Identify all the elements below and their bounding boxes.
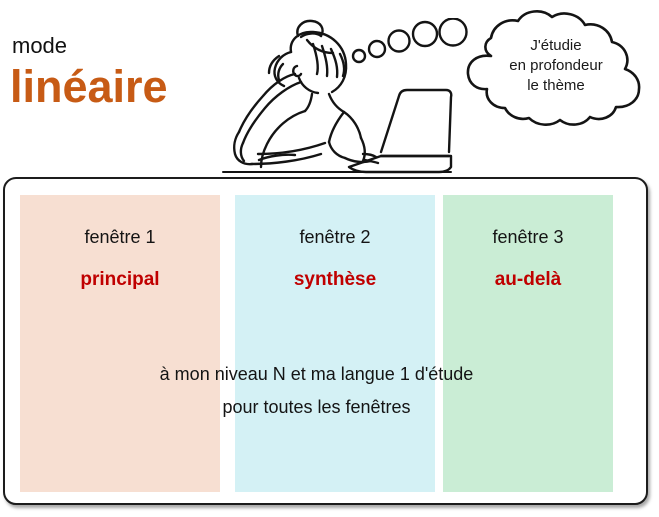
column-3-value: au-delà xyxy=(443,268,613,292)
column-2-title: fenêtre 2 xyxy=(235,226,435,248)
footer-note-line-2: pour toutes les fenêtres xyxy=(20,391,613,424)
thought-bubble-line-3: le thème xyxy=(472,76,640,96)
thought-bubble-line-2: en profondeur xyxy=(472,56,640,76)
column-1-value: principal xyxy=(20,268,220,292)
window-column-3: fenêtre 3 au-delà xyxy=(443,195,613,492)
column-2-value: synthèse xyxy=(235,268,435,292)
thought-bubble-text: J'étudie en profondeur le thème xyxy=(472,36,640,96)
column-1-title: fenêtre 1 xyxy=(20,226,220,248)
column-3-title: fenêtre 3 xyxy=(443,226,613,248)
mode-label: mode xyxy=(12,33,67,59)
thought-bubble-line-1: J'étudie xyxy=(472,36,640,56)
window-column-2: fenêtre 2 synthèse xyxy=(235,195,435,492)
footer-note: à mon niveau N et ma langue 1 d'étude po… xyxy=(20,358,613,424)
header: mode linéaire xyxy=(0,0,659,178)
window-column-1: fenêtre 1 principal xyxy=(20,195,220,492)
footer-note-line-1: à mon niveau N et ma langue 1 d'étude xyxy=(20,358,613,391)
mode-name: linéaire xyxy=(10,61,168,113)
